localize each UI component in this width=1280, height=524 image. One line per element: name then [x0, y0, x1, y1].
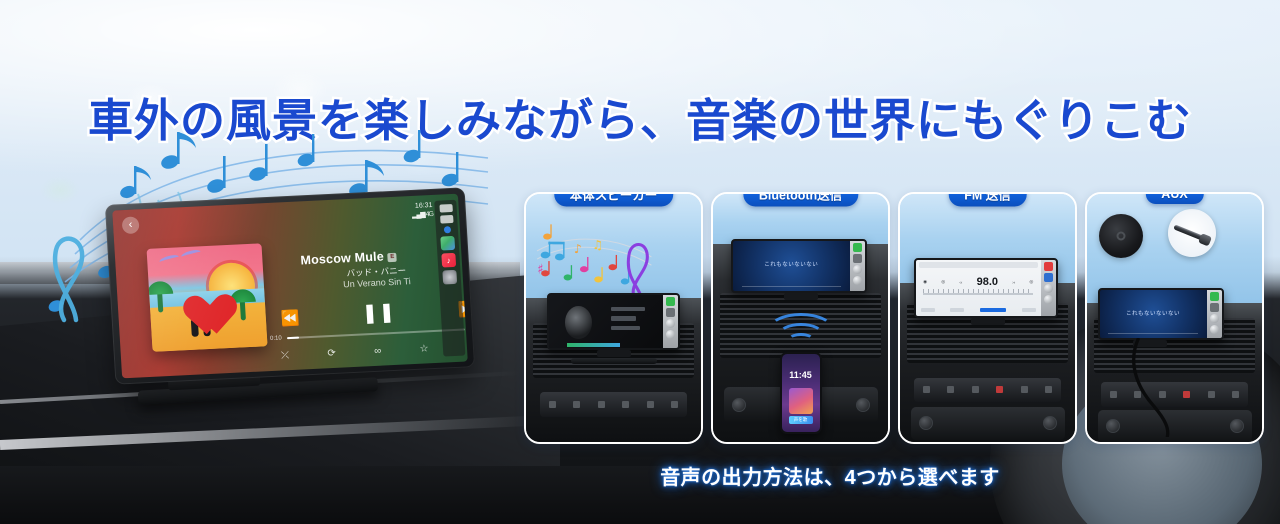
aux-port-icon — [1117, 231, 1126, 240]
svg-text:♯: ♯ — [537, 262, 543, 277]
panel-label-speaker: 本体スピーカー — [554, 192, 674, 207]
fm-preset-buttons[interactable] — [921, 308, 1036, 313]
mini-device-stand — [971, 318, 1005, 325]
climate-knob-left[interactable] — [919, 416, 933, 430]
fm-scan-down[interactable]: ‹‹ — [959, 280, 962, 285]
network-label: 4G — [425, 211, 433, 218]
aux-port-inset — [1099, 214, 1143, 258]
progress-row[interactable]: 0:10 3:56 — [270, 326, 468, 342]
progress-bar[interactable] — [287, 328, 466, 339]
output-option-panels: ♯ ♪ ♫ 本体スピーカー — [524, 192, 1264, 444]
panel-label-bluetooth: Bluetooth送信 — [743, 192, 858, 207]
track-album: Un Verano Sin Ti — [302, 274, 452, 291]
panel-label-aux: AUX — [1145, 192, 1203, 204]
album-art-palm — [157, 286, 164, 312]
fm-scan-up[interactable]: ›› — [1012, 280, 1015, 285]
rewind-button[interactable]: ⏪ — [280, 308, 300, 327]
panel-bluetooth[interactable]: これもないないない 11:45 声を歌 Bluetooth送信 — [711, 192, 890, 444]
status-bar: 16:31 ▂▄▆ 4G — [411, 201, 433, 220]
panel-climate-controls — [911, 407, 1065, 439]
page-title: 車外の風景を楽しみながら、音楽の世界にもぐりこむ — [0, 84, 1280, 149]
fm-next-icon[interactable]: ◎ — [1029, 279, 1033, 285]
panel-fm[interactable]: ◉ ◎ ‹‹ 98.0 ›› ◎ FM 送信 — [898, 192, 1077, 444]
carplay-dock: ♪ — [434, 200, 465, 357]
dock-tile-2-icon[interactable] — [440, 215, 453, 224]
smartphone: 11:45 声を歌 — [780, 352, 822, 434]
climate-knob-right[interactable] — [856, 398, 870, 412]
climate-knob-right[interactable] — [1230, 419, 1244, 433]
panel-aux[interactable]: これもないないない AUX — [1085, 192, 1264, 444]
carplay-screen: ‹ 16:31 ▂▄▆ 4G — [112, 194, 468, 379]
lyrics-icon[interactable]: ∞ — [374, 346, 382, 357]
mini-device-base — [571, 358, 657, 364]
panel-control-bar — [914, 378, 1061, 403]
phone-album-art — [789, 388, 813, 414]
album-art-bird — [159, 253, 180, 265]
fm-power-icon[interactable]: ◉ — [923, 279, 927, 285]
aux-jack-inset — [1168, 209, 1216, 257]
footer-caption-text: 音声の出力方法は、4つから選べます — [280, 467, 1000, 489]
fm-titlebar — [919, 262, 1038, 268]
mini-device-buttons[interactable] — [663, 295, 678, 348]
signal-bars-icon: ▂▄▆ — [412, 211, 425, 219]
more-icon[interactable]: ⋯ — [467, 341, 468, 352]
album-art-sun — [208, 262, 257, 310]
album-art-leg — [191, 319, 199, 337]
fm-dial[interactable] — [923, 293, 1033, 295]
phone-cta-button[interactable]: 声を歌 — [789, 416, 813, 424]
album-art-heart — [174, 278, 222, 322]
dock-tile-1-icon[interactable] — [439, 204, 452, 213]
car-display-device: ‹ 16:31 ▂▄▆ 4G — [110, 196, 490, 411]
device-body: ‹ 16:31 ▂▄▆ 4G — [105, 187, 475, 384]
album-art-sea — [149, 288, 265, 310]
album-art-palm — [239, 294, 246, 320]
repeat-icon[interactable]: ⟳ — [327, 348, 336, 359]
track-artist: バッド・バニー — [301, 262, 452, 281]
footer-caption: 音声の出力方法は、4つから選べます — [0, 461, 1280, 490]
album-art — [147, 243, 268, 351]
track-title: Moscow MuleE — [300, 246, 451, 267]
mini-screen-text: これもないないない — [733, 260, 851, 268]
aux-cable — [1119, 338, 1189, 437]
maps-app-icon[interactable] — [440, 236, 455, 251]
forward-button[interactable]: ⏩ — [457, 299, 467, 318]
mini-device-buttons[interactable] — [1207, 290, 1222, 338]
mini-screen: これもないないない — [1100, 290, 1207, 338]
mini-device-buttons[interactable] — [850, 241, 865, 292]
fm-controls-row: ◉ ◎ ‹‹ 98.0 ›› ◎ — [916, 276, 1041, 288]
svg-text:♪: ♪ — [574, 242, 582, 256]
status-time: 16:31 — [411, 201, 433, 211]
mini-device: ◉ ◎ ‹‹ 98.0 ›› ◎ — [914, 258, 1058, 318]
bluetooth-signal-waves — [766, 300, 836, 346]
panel-control-bar — [540, 392, 687, 417]
fm-prev-icon[interactable]: ◎ — [941, 279, 945, 285]
shuffle-icon[interactable]: ⤫ — [281, 350, 290, 361]
explicit-badge: E — [388, 253, 398, 262]
mini-device — [547, 293, 680, 350]
mini-device-buttons[interactable] — [1041, 260, 1056, 316]
panel-speaker[interactable]: ♯ ♪ ♫ 本体スピーカー — [524, 192, 703, 444]
pause-button[interactable]: ❚❚ — [361, 301, 396, 326]
climate-knob-left[interactable] — [1106, 419, 1120, 433]
aux-plug-icon — [1173, 224, 1203, 240]
album-art-bird — [180, 248, 201, 260]
mini-screen: ◉ ◎ ‹‹ 98.0 ›› ◎ — [916, 260, 1041, 316]
climate-knob-right[interactable] — [1043, 416, 1057, 430]
phone-clock: 11:45 — [782, 370, 820, 380]
mini-device-stand — [597, 350, 631, 357]
promo-banner: 車外の風景を楽しみながら、音楽の世界にもぐりこむ — [0, 0, 1280, 524]
favorite-icon[interactable]: ☆ — [419, 343, 429, 354]
fm-frequency: 98.0 — [977, 276, 998, 288]
svg-text:♫: ♫ — [592, 238, 603, 252]
transport-controls: ⏪ ❚❚ ⏩ — [280, 297, 468, 330]
secondary-controls: ⤫ ⟳ ∞ ☆ ⋯ — [281, 341, 468, 362]
album-art-sand — [150, 302, 267, 352]
elapsed-time: 0:10 — [270, 335, 282, 342]
music-app-icon[interactable]: ♪ — [441, 253, 456, 268]
dock-dot-icon[interactable] — [443, 226, 450, 233]
mini-device: これもないないない — [731, 239, 868, 294]
panel-label-fm: FM 送信 — [948, 192, 1027, 207]
mini-device: これもないないない — [1098, 288, 1224, 340]
settings-app-icon[interactable] — [442, 270, 457, 285]
mini-screen-text: これもないないない — [1100, 309, 1207, 317]
album-art-leg — [203, 318, 211, 336]
climate-knob-left[interactable] — [732, 398, 746, 412]
mini-screen: これもないないない — [733, 241, 851, 292]
back-icon[interactable]: ‹ — [122, 216, 140, 234]
track-title-text: Moscow Mule — [300, 249, 384, 267]
mini-screen — [549, 295, 663, 348]
